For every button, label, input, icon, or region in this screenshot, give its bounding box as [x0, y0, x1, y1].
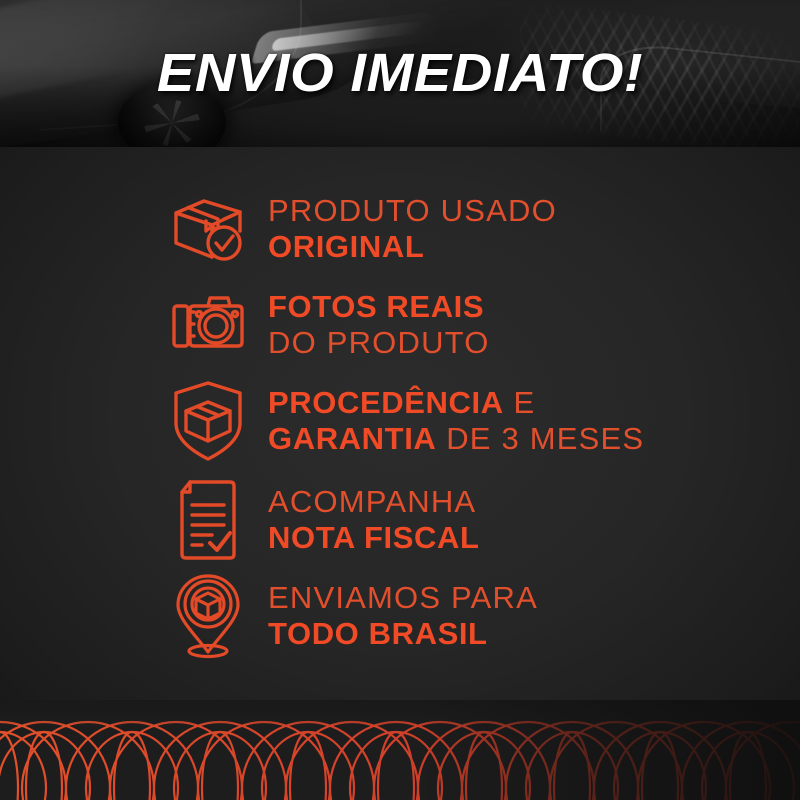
footer-pattern	[0, 700, 800, 800]
feature-text: PROCEDÊNCIA E GARANTIA DE 3 MESES	[268, 385, 644, 457]
header-banner: ENVIO IMEDIATO!	[0, 0, 800, 147]
feature-list: PRODUTO USADO ORIGINAL	[0, 147, 800, 704]
feature-row: ENVIAMOS PARA TODO BRASIL	[0, 568, 800, 663]
feature-line-2: NOTA FISCAL	[268, 520, 480, 556]
feature-text: PRODUTO USADO ORIGINAL	[268, 193, 557, 265]
package-check-icon	[160, 191, 256, 267]
feature-line-1-bold: PROCEDÊNCIA	[268, 385, 504, 420]
camera-icon	[160, 290, 256, 360]
feature-row: FOTOS REAIS DO PRODUTO	[0, 277, 800, 372]
decorative-lattice-icon	[0, 700, 800, 800]
feature-line-1: ENVIAMOS PARA	[268, 580, 538, 616]
location-pin-package-icon	[160, 572, 256, 660]
feature-text: ENVIAMOS PARA TODO BRASIL	[268, 580, 538, 652]
feature-line-2: DO PRODUTO	[268, 325, 490, 361]
feature-row: ACOMPANHA NOTA FISCAL	[0, 472, 800, 567]
feature-line-2: GARANTIA DE 3 MESES	[268, 421, 644, 457]
feature-line-2-light: DE 3 MESES	[436, 421, 644, 456]
invoice-document-icon	[160, 479, 256, 561]
feature-line-1: FOTOS REAIS	[268, 289, 490, 325]
feature-line-1: ACOMPANHA	[268, 484, 480, 520]
feature-line-2: ORIGINAL	[268, 229, 557, 265]
shield-package-icon	[160, 379, 256, 463]
feature-line-1: PRODUTO USADO	[268, 193, 557, 229]
promo-banner: ENVIO IMEDIATO!	[0, 0, 800, 800]
feature-line-1-light: E	[504, 385, 536, 420]
feature-line-1: PROCEDÊNCIA E	[268, 385, 644, 421]
header-title: ENVIO IMEDIATO!	[0, 44, 800, 102]
feature-text: ACOMPANHA NOTA FISCAL	[268, 484, 480, 556]
feature-line-2: TODO BRASIL	[268, 616, 538, 652]
feature-text: FOTOS REAIS DO PRODUTO	[268, 289, 490, 361]
feature-line-2-bold: GARANTIA	[268, 421, 436, 456]
feature-row: PROCEDÊNCIA E GARANTIA DE 3 MESES	[0, 373, 800, 468]
feature-row: PRODUTO USADO ORIGINAL	[0, 181, 800, 276]
